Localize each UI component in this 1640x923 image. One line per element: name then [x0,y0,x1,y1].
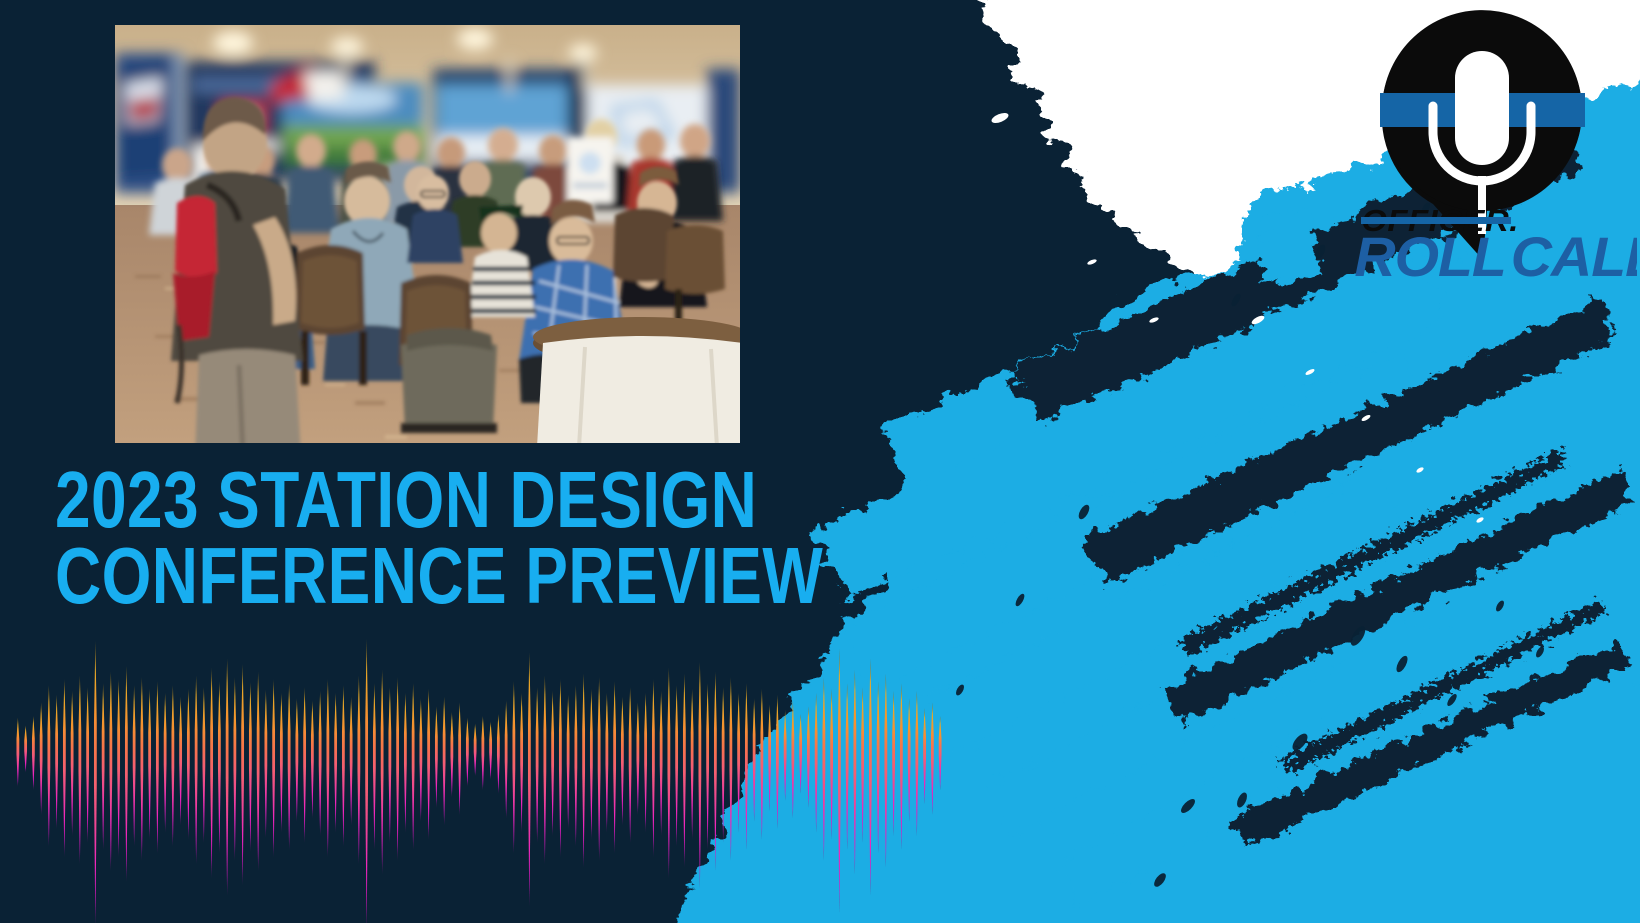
waveform-bar [590,689,593,840]
waveform-bar [675,685,678,846]
waveform-bar [613,681,616,853]
officer-rollcall-logo: OFFICER. ROLLCALL [1285,8,1637,283]
waveform-bar [435,706,438,808]
waveform-bar [218,681,221,853]
waveform-bar [722,687,725,843]
waveform-bar [853,670,856,875]
waveform-bar [838,649,841,914]
waveform-bar [334,693,337,833]
episode-title: 2023 STATION DESIGN CONFERENCE PREVIEW [55,462,855,614]
waveform-bar [543,675,546,864]
waveform-bar [900,683,903,850]
waveform-bar [776,695,779,829]
logo-rollcall-text: ROLLCALL [1354,226,1637,283]
waveform-bar [605,693,608,833]
waveform-bar [63,679,66,857]
waveform-bar [412,683,415,850]
conference-photo [115,25,740,443]
waveform-bar [869,658,872,896]
waveform-bar [636,702,639,814]
waveform-bar [815,693,818,833]
waveform-bar [458,702,461,814]
logo-brand-main: ROLLCALL [1354,226,1637,283]
audio-waveform-bars [14,645,944,923]
waveform-bar [303,687,306,843]
waveform-bar [915,691,918,836]
waveform-bar [884,674,887,868]
waveform-bar [319,691,322,836]
waveform-bar [288,683,291,850]
waveform-bar [512,681,515,853]
waveform-bar [187,689,190,840]
waveform-bar [753,699,756,822]
waveform-bar [32,716,35,790]
waveform-bar [567,695,570,829]
audio-waveform [14,645,944,923]
waveform-bar [807,706,810,808]
waveform-bar [497,714,500,794]
waveform-bar [233,677,236,860]
waveform-bar [350,697,353,826]
waveform-bar [698,662,701,889]
waveform-bar [691,689,694,840]
waveform-bar [621,697,624,826]
waveform-bar [295,699,298,822]
waveform-bar [171,685,174,846]
waveform-bar [102,683,105,850]
podcast-episode-artwork: 2023 STATION DESIGN CONFERENCE PREVIEW [0,0,1640,923]
waveform-bar [574,685,577,846]
waveform-bar [16,718,19,787]
waveform-bar [71,691,74,836]
waveform-bar [443,697,446,826]
waveform-bar [419,699,422,822]
waveform-bar [908,699,911,822]
episode-title-line-2: CONFERENCE PREVIEW [55,538,695,614]
waveform-bar [241,664,244,885]
waveform-bar [164,693,167,833]
waveform-bar [629,687,632,843]
waveform-bar [210,668,213,878]
waveform-bar [760,689,763,840]
waveform-bar [396,677,399,860]
waveform-bar [450,712,453,797]
waveform-bar [109,672,112,872]
waveform-bar [373,683,376,850]
waveform-bar [745,683,748,850]
waveform-bar [125,666,128,882]
waveform-bar [311,700,314,818]
waveform-bar [365,639,368,923]
waveform-bar [78,675,81,864]
waveform-bar [326,679,329,857]
waveform-bar [892,691,895,836]
waveform-bar [520,693,523,833]
waveform-bar [706,683,709,850]
waveform-bar [140,677,143,860]
waveform-bar [931,702,934,814]
waveform-bar [466,718,469,787]
waveform-bar [148,689,151,840]
waveform-bar [481,716,484,790]
waveform-bar [559,679,562,857]
waveform-bar [791,700,794,818]
waveform-bar [86,687,89,843]
waveform-bar [404,693,407,833]
waveform-bar [280,693,283,833]
waveform-bar [784,710,787,801]
waveform-bar [156,681,159,853]
waveform-bar [551,691,554,836]
waveform-bar [714,672,717,872]
waveform-bar [737,693,740,833]
waveform-bar [264,690,267,838]
waveform-bar [667,668,670,878]
paint-speckles [954,201,1545,888]
waveform-bar [94,641,97,923]
waveform-bar [660,691,663,836]
waveform-bar [582,674,585,868]
waveform-bar [799,714,802,794]
waveform-bar [505,700,508,818]
waveform-bar [357,675,360,864]
waveform-bar [381,670,384,875]
waveform-bar [179,697,182,826]
waveform-bar [388,687,391,843]
waveform-bar [822,677,825,860]
waveform-bar [861,687,864,843]
waveform-bar [528,652,531,906]
waveform-bar [923,708,926,804]
waveform-bar [474,723,477,776]
waveform-bar [489,722,492,780]
episode-title-line-1: 2023 STATION DESIGN [55,462,695,538]
waveform-bar [846,683,849,850]
waveform-bar [202,687,205,843]
waveform-bar [257,672,260,872]
waveform-bar [939,716,942,790]
waveform-bar [598,677,601,860]
waveform-bar [24,725,27,772]
conference-photo-image [115,25,740,443]
waveform-bar [536,687,539,843]
waveform-bar [249,682,252,852]
waveform-bar [40,702,43,814]
waveform-bar [226,658,229,896]
waveform-bar [877,681,880,853]
waveform-bar [683,674,686,868]
waveform-bar [830,689,833,840]
waveform-bar [47,685,50,846]
waveform-bar [55,695,58,829]
waveform-bar [644,693,647,833]
waveform-bar [272,679,275,857]
waveform-bar [652,679,655,857]
waveform-bar [117,679,120,857]
waveform-bar [133,685,136,846]
waveform-bar [195,675,198,864]
waveform-bar [342,685,345,846]
waveform-bar [427,689,430,840]
waveform-bar [768,704,771,811]
waveform-bar [729,677,732,860]
